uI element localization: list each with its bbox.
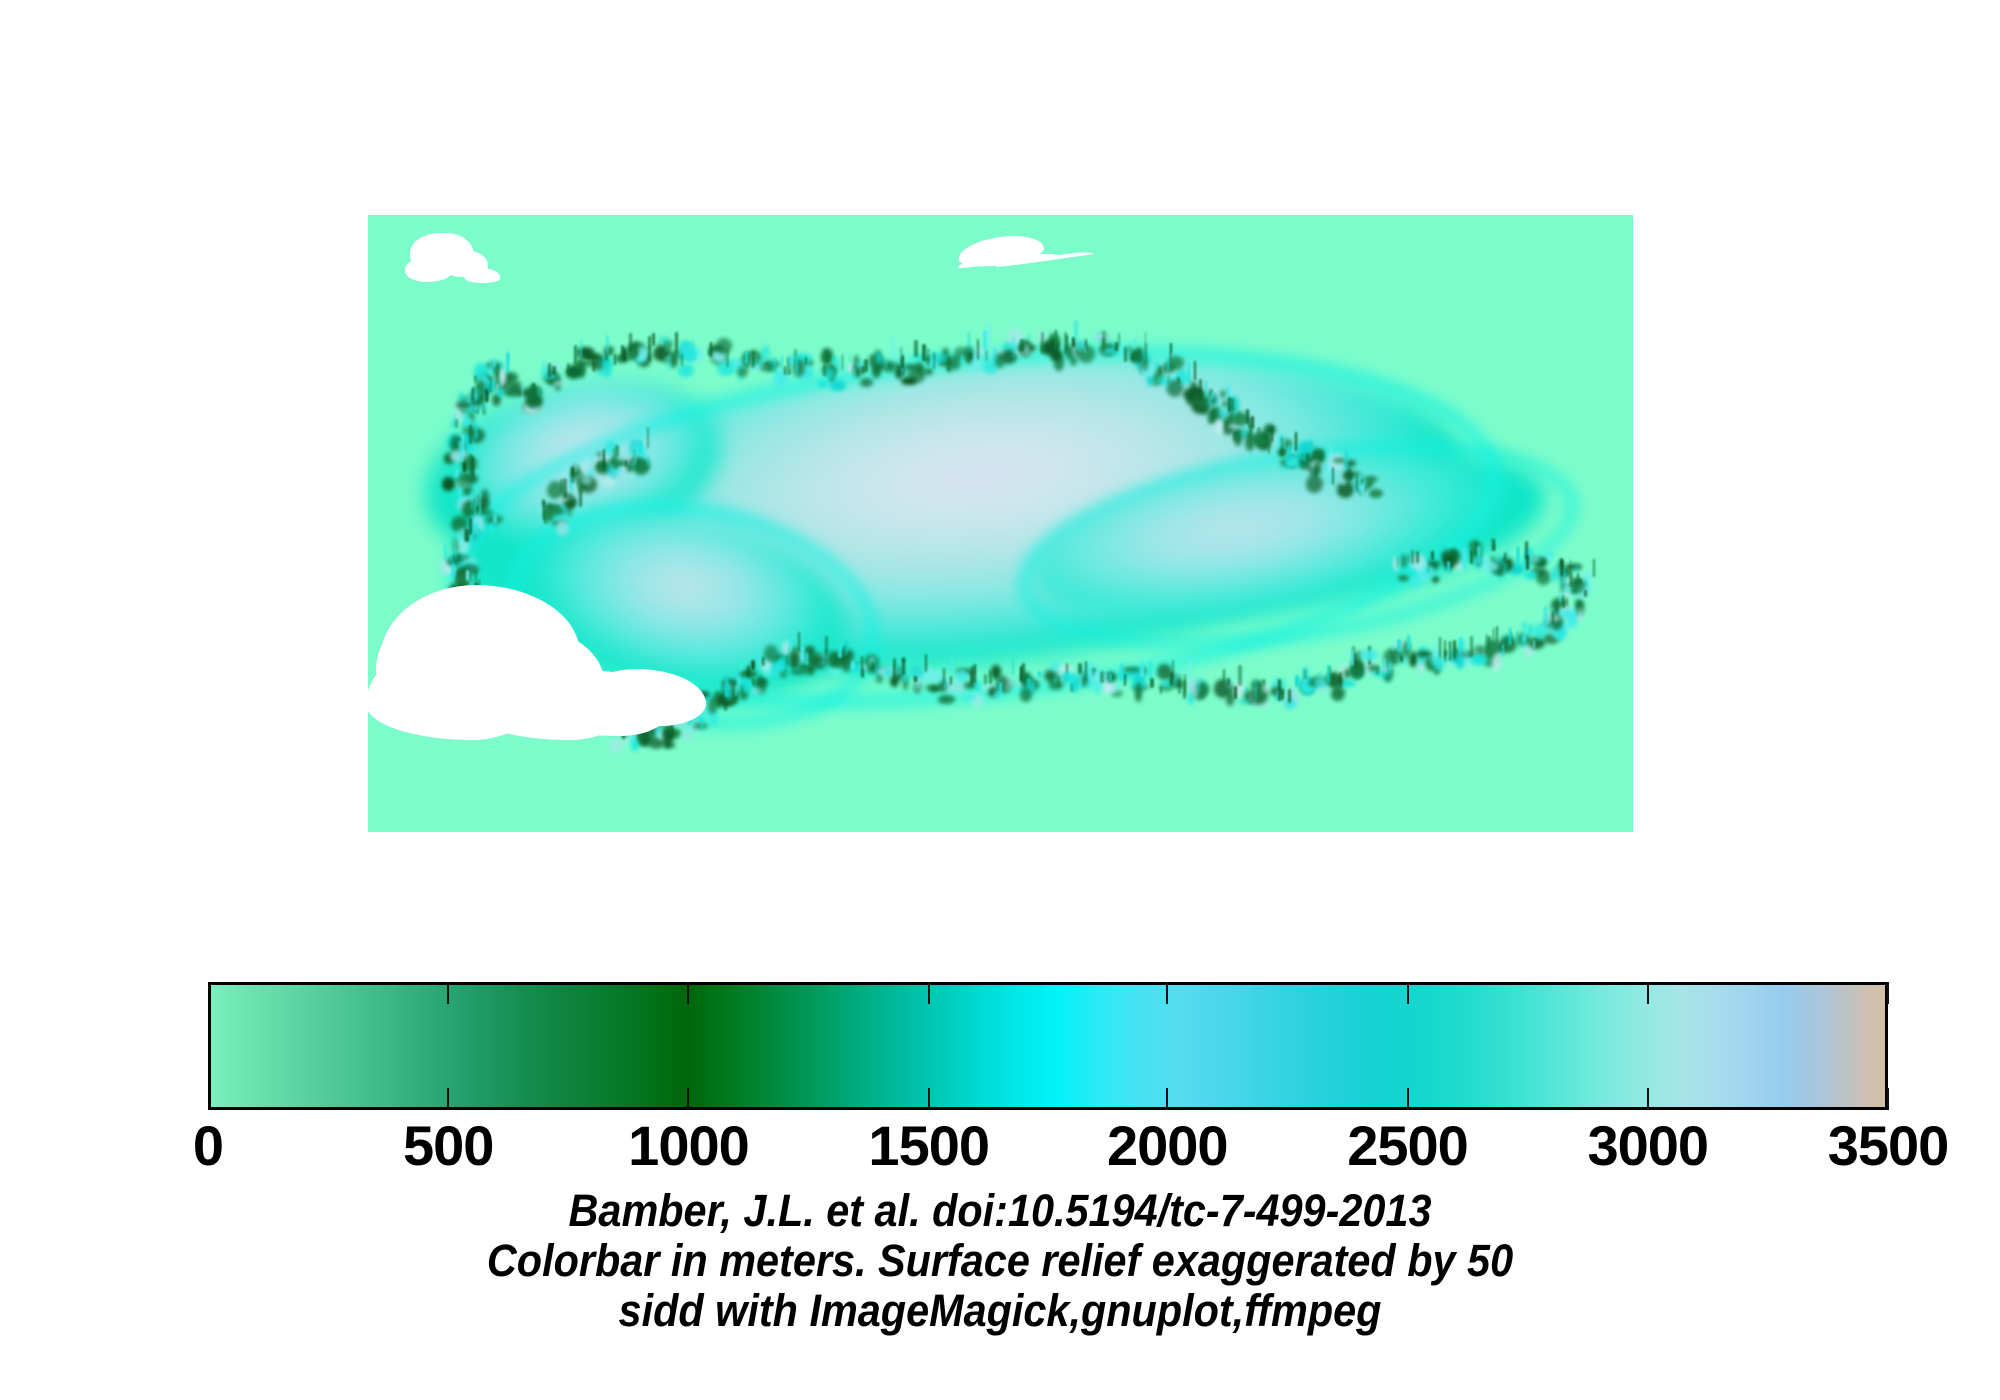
relief-striation	[1392, 639, 1394, 651]
relief-striation	[1383, 658, 1386, 669]
relief-crag	[553, 381, 567, 386]
relief-striation	[1246, 687, 1248, 694]
relief-striation	[1012, 659, 1014, 675]
relief-striation	[1150, 678, 1153, 688]
relief-striation	[931, 350, 933, 365]
relief-striation	[1295, 675, 1299, 687]
relief-striation	[843, 646, 846, 668]
relief-striation	[692, 339, 694, 348]
relief-striation	[1295, 432, 1297, 451]
relief-crag	[806, 655, 824, 665]
relief-striation	[862, 668, 864, 678]
relief-striation	[492, 379, 495, 391]
relief-striation	[625, 460, 627, 467]
colorbar-tick-3500	[1887, 982, 1889, 1004]
relief-striation	[1145, 343, 1147, 365]
relief-crag	[566, 498, 574, 508]
relief-striation	[876, 667, 878, 676]
relief-striation	[649, 722, 651, 736]
relief-crag	[1333, 458, 1346, 463]
relief-striation	[1074, 320, 1077, 340]
relief-crag	[1433, 657, 1445, 671]
colorbar-label-0: 0	[193, 1116, 223, 1176]
relief-crag	[1331, 686, 1346, 701]
relief-striation	[891, 337, 894, 358]
relief-striation	[1020, 339, 1023, 350]
relief-striation	[1233, 432, 1236, 442]
relief-striation	[471, 491, 473, 510]
colorbar-tick-labels: 0500100015002000250030003500	[0, 1116, 2000, 1186]
colorbar-label-1500: 1500	[868, 1116, 989, 1176]
relief-crag	[737, 367, 747, 377]
relief-striation	[853, 368, 855, 381]
relief-striation	[786, 655, 788, 666]
relief-crag	[1061, 672, 1076, 682]
relief-striation	[560, 479, 563, 494]
relief-striation	[899, 344, 900, 359]
relief-striation	[604, 709, 605, 723]
relief-striation	[1100, 671, 1104, 683]
relief-striation	[1278, 679, 1281, 701]
colorbar	[208, 982, 1888, 1110]
colorbar-label-2500: 2500	[1347, 1116, 1468, 1176]
relief-striation	[1315, 467, 1317, 478]
relief-striation	[968, 332, 970, 352]
relief-striation	[902, 658, 905, 674]
relief-striation	[1507, 545, 1509, 560]
relief-striation	[789, 355, 792, 370]
colorbar-tick-1000	[687, 982, 689, 1004]
greenland-relief-map	[368, 215, 1633, 832]
relief-striation	[780, 659, 782, 665]
relief-striation	[752, 678, 755, 686]
relief-crag	[1573, 566, 1579, 572]
svalbard-nodata	[956, 231, 1045, 271]
relief-crag	[1023, 344, 1030, 355]
relief-striation	[1223, 669, 1225, 686]
colorbar-tick-3500	[1887, 1088, 1889, 1110]
relief-striation	[1558, 559, 1560, 578]
colorbar-tick-1500	[928, 1088, 930, 1110]
relief-striation	[1303, 667, 1305, 683]
relief-striation	[1085, 661, 1087, 682]
relief-striation	[1231, 398, 1233, 411]
relief-striation	[1022, 663, 1025, 682]
relief-striation	[1567, 568, 1569, 577]
relief-crag	[477, 380, 484, 393]
relief-striation	[986, 350, 987, 361]
relief-striation	[506, 349, 508, 363]
relief-striation	[789, 638, 792, 652]
relief-striation	[950, 676, 952, 685]
relief-striation	[1194, 361, 1196, 381]
relief-striation	[1447, 561, 1450, 572]
relief-striation	[1160, 686, 1162, 694]
relief-crag	[821, 348, 833, 364]
relief-striation	[1177, 377, 1180, 384]
relief-striation	[493, 514, 496, 524]
relief-striation	[1188, 658, 1191, 679]
relief-striation	[1561, 560, 1564, 568]
relief-striation	[455, 548, 457, 559]
relief-striation	[1246, 409, 1249, 424]
relief-striation	[579, 359, 581, 372]
relief-crag	[666, 354, 671, 371]
relief-striation	[994, 348, 996, 355]
relief-striation	[1509, 627, 1511, 645]
relief-striation	[950, 655, 954, 675]
relief-striation	[1250, 423, 1252, 440]
relief-striation	[1255, 680, 1257, 700]
relief-striation	[1332, 467, 1334, 485]
relief-striation	[1102, 337, 1104, 351]
relief-crag	[442, 477, 455, 490]
caption-line-colorbar-note: Colorbar in meters. Surface relief exagg…	[80, 1236, 1920, 1286]
relief-crag	[761, 345, 769, 362]
relief-striation	[1411, 550, 1413, 563]
relief-striation	[1428, 556, 1430, 573]
relief-crag	[938, 695, 955, 705]
relief-striation	[1327, 478, 1329, 485]
relief-striation	[861, 366, 864, 374]
relief-striation	[1552, 611, 1554, 626]
relief-striation	[864, 359, 867, 372]
relief-crag	[902, 674, 910, 681]
relief-striation	[552, 366, 556, 375]
relief-striation	[1238, 665, 1242, 686]
relief-striation	[983, 330, 987, 350]
relief-striation	[1470, 636, 1473, 658]
relief-striation	[1548, 555, 1551, 561]
relief-striation	[1149, 661, 1153, 680]
relief-crag	[581, 476, 593, 485]
colorbar-tick-500	[447, 982, 449, 1004]
relief-striation	[544, 510, 547, 524]
caption-line-citation: Bamber, J.L. et al. doi:10.5194/tc-7-499…	[80, 1186, 1920, 1236]
relief-striation	[577, 685, 580, 705]
relief-striation	[1407, 635, 1409, 650]
relief-crag	[1263, 684, 1269, 693]
relief-striation	[977, 339, 979, 361]
relief-crag	[869, 354, 878, 367]
ellesmere-island-nodata	[410, 233, 474, 275]
relief-striation	[1477, 546, 1480, 565]
relief-crag	[1522, 622, 1528, 630]
relief-striation	[629, 333, 632, 351]
relief-striation	[586, 703, 588, 711]
relief-striation	[479, 493, 481, 514]
relief-crag	[830, 380, 845, 392]
relief-striation	[563, 478, 566, 498]
relief-striation	[1400, 655, 1403, 662]
relief-striation	[795, 354, 798, 375]
relief-striation	[1041, 332, 1044, 354]
relief-striation	[1257, 427, 1260, 445]
relief-crag	[697, 691, 710, 698]
relief-striation	[1205, 381, 1207, 398]
relief-crag	[1401, 554, 1407, 567]
relief-crag	[1432, 576, 1439, 583]
relief-crag	[1220, 390, 1226, 397]
relief-striation	[587, 713, 590, 731]
relief-striation	[1227, 678, 1230, 687]
colorbar-tick-1000	[687, 1088, 689, 1110]
relief-striation	[886, 358, 888, 368]
relief-striation	[849, 354, 850, 361]
relief-striation	[1502, 644, 1505, 657]
relief-striation	[927, 348, 929, 366]
relief-striation	[1559, 590, 1561, 603]
relief-striation	[490, 523, 493, 534]
relief-striation	[468, 381, 470, 403]
relief-crag	[1090, 671, 1108, 684]
relief-striation	[1084, 345, 1086, 353]
relief-striation	[710, 342, 712, 357]
relief-striation	[1324, 462, 1326, 470]
relief-crag	[471, 403, 480, 412]
relief-crag	[721, 367, 736, 373]
relief-striation	[1310, 439, 1312, 458]
relief-striation	[1288, 445, 1291, 461]
relief-striation	[1493, 539, 1495, 551]
relief-crag	[1528, 624, 1533, 637]
relief-striation	[1228, 397, 1232, 412]
relief-striation	[1533, 640, 1535, 648]
relief-striation	[463, 462, 465, 472]
colorbar-tick-2000	[1166, 982, 1168, 1004]
relief-crag	[834, 357, 840, 369]
relief-crag	[1215, 418, 1222, 436]
relief-striation	[1120, 663, 1123, 681]
relief-striation	[671, 720, 673, 738]
colorbar-tick-3000	[1647, 982, 1649, 1004]
colorbar-tick-500	[447, 1088, 449, 1110]
relief-striation	[1579, 578, 1581, 585]
relief-striation	[1211, 390, 1214, 399]
colorbar-tick-3000	[1647, 1088, 1649, 1110]
relief-striation	[543, 359, 545, 374]
relief-crag	[925, 368, 933, 375]
relief-crag	[830, 668, 840, 674]
relief-striation	[455, 419, 459, 428]
relief-striation	[469, 425, 472, 444]
relief-striation	[1493, 628, 1494, 639]
relief-striation	[943, 668, 945, 684]
relief-striation	[591, 454, 593, 474]
relief-crag	[610, 738, 623, 753]
relief-striation	[1449, 641, 1451, 661]
relief-crag	[585, 353, 599, 360]
relief-striation	[1351, 650, 1354, 666]
relief-striation	[1288, 689, 1290, 704]
relief-striation	[1167, 359, 1170, 371]
relief-striation	[606, 335, 609, 354]
relief-striation	[1525, 541, 1528, 559]
relief-striation	[922, 344, 926, 361]
relief-striation	[781, 355, 783, 370]
relief-striation	[999, 682, 1002, 695]
relief-striation	[1109, 673, 1111, 683]
relief-crag	[751, 688, 763, 694]
relief-crag	[525, 395, 543, 407]
relief-striation	[1178, 679, 1181, 694]
relief-striation	[925, 654, 927, 672]
relief-striation	[465, 528, 467, 542]
colorbar-label-3500: 3500	[1828, 1116, 1949, 1176]
relief-crag	[1167, 380, 1183, 396]
relief-striation	[1281, 437, 1283, 457]
relief-striation	[1234, 686, 1236, 699]
relief-striation	[444, 544, 447, 561]
relief-striation	[622, 729, 625, 738]
relief-crag	[1264, 424, 1276, 435]
relief-striation	[961, 355, 963, 364]
relief-striation	[842, 354, 844, 370]
relief-striation	[474, 501, 476, 515]
relief-striation	[825, 649, 827, 665]
relief-striation	[1299, 445, 1302, 460]
relief-striation	[469, 518, 472, 535]
relief-striation	[1345, 451, 1348, 469]
relief-striation	[914, 676, 917, 682]
relief-striation	[851, 661, 854, 670]
relief-striation	[612, 711, 614, 730]
relief-striation	[623, 348, 625, 361]
relief-crag	[1360, 649, 1378, 661]
relief-crag	[581, 687, 592, 696]
relief-crag	[901, 377, 917, 385]
relief-striation	[634, 456, 636, 465]
relief-striation	[1356, 475, 1358, 492]
relief-striation	[1028, 334, 1030, 340]
relief-striation	[747, 665, 749, 677]
relief-striation	[1338, 675, 1340, 682]
relief-striation	[1038, 671, 1041, 677]
relief-striation	[1431, 551, 1434, 560]
relief-striation	[507, 352, 509, 362]
relief-striation	[474, 423, 478, 439]
relief-striation	[496, 364, 499, 384]
relief-striation	[1517, 547, 1519, 563]
relief-striation	[726, 348, 729, 367]
relief-striation	[1188, 363, 1190, 384]
relief-crag	[1315, 687, 1331, 692]
relief-crag	[674, 711, 689, 728]
relief-striation	[1271, 426, 1273, 442]
relief-striation	[639, 440, 641, 455]
relief-striation	[1118, 333, 1120, 347]
relief-striation	[1439, 637, 1441, 659]
relief-striation	[1470, 550, 1473, 563]
relief-crag	[1412, 573, 1420, 590]
relief-crag	[955, 669, 969, 682]
relief-striation	[701, 715, 703, 730]
relief-striation	[1168, 375, 1169, 384]
relief-striation	[538, 388, 540, 397]
relief-striation	[576, 700, 577, 706]
relief-striation	[1281, 689, 1284, 700]
relief-striation	[1453, 640, 1456, 659]
relief-striation	[798, 632, 800, 652]
relief-striation	[725, 676, 728, 697]
colorbar-tick-2500	[1407, 982, 1409, 1004]
relief-striation	[995, 669, 997, 679]
relief-crag	[1527, 572, 1534, 580]
relief-striation	[1496, 626, 1498, 644]
relief-striation	[701, 704, 704, 714]
relief-striation	[933, 352, 935, 369]
relief-striation	[1460, 639, 1462, 649]
relief-crag	[603, 477, 615, 487]
colorbar-label-3000: 3000	[1587, 1116, 1708, 1176]
relief-striation	[1134, 338, 1137, 347]
relief-striation	[1057, 676, 1060, 687]
relief-striation	[989, 670, 992, 684]
relief-striation	[615, 445, 618, 456]
relief-striation	[1544, 606, 1547, 626]
relief-striation	[1183, 680, 1186, 699]
relief-striation	[485, 389, 488, 402]
colorbar-tick-1500	[928, 982, 930, 1004]
colorbar-gradient	[208, 982, 1888, 1110]
relief-striation	[454, 540, 456, 550]
caption: Bamber, J.L. et al. doi:10.5194/tc-7-499…	[0, 1186, 2000, 1336]
relief-striation	[801, 646, 804, 661]
relief-crag	[1369, 489, 1382, 498]
relief-striation	[451, 564, 454, 578]
relief-striation	[1159, 366, 1161, 374]
colorbar-label-2000: 2000	[1107, 1116, 1228, 1176]
relief-striation	[476, 497, 478, 505]
relief-striation	[833, 355, 835, 363]
relief-striation	[648, 336, 651, 350]
relief-striation	[1397, 639, 1401, 652]
relief-crag	[716, 338, 732, 354]
relief-striation	[1593, 559, 1595, 577]
relief-striation	[476, 520, 478, 535]
relief-striation	[548, 363, 551, 378]
relief-crag	[682, 729, 693, 742]
relief-crag	[565, 697, 572, 706]
relief-crag	[606, 730, 622, 736]
colorbar-label-1000: 1000	[628, 1116, 749, 1176]
relief-striation	[1197, 682, 1200, 692]
relief-crag	[622, 714, 630, 723]
relief-striation	[458, 441, 461, 453]
relief-striation	[1027, 678, 1030, 688]
relief-striation	[652, 333, 655, 346]
relief-striation	[688, 717, 691, 725]
relief-striation	[1172, 660, 1174, 677]
relief-striation	[823, 365, 826, 375]
relief-striation	[460, 440, 463, 462]
relief-striation	[745, 351, 748, 364]
relief-striation	[450, 552, 452, 561]
relief-striation	[1124, 674, 1126, 687]
relief-crag	[1168, 356, 1184, 370]
relief-crag	[1020, 688, 1032, 701]
relief-striation	[574, 345, 576, 364]
relief-crag	[1094, 333, 1109, 341]
relief-striation	[974, 664, 975, 683]
relief-striation	[1463, 548, 1466, 570]
relief-striation	[1138, 682, 1140, 689]
relief-striation	[1584, 590, 1587, 597]
relief-striation	[571, 477, 573, 493]
relief-striation	[472, 457, 475, 477]
relief-striation	[1329, 666, 1331, 684]
relief-striation	[681, 354, 683, 366]
